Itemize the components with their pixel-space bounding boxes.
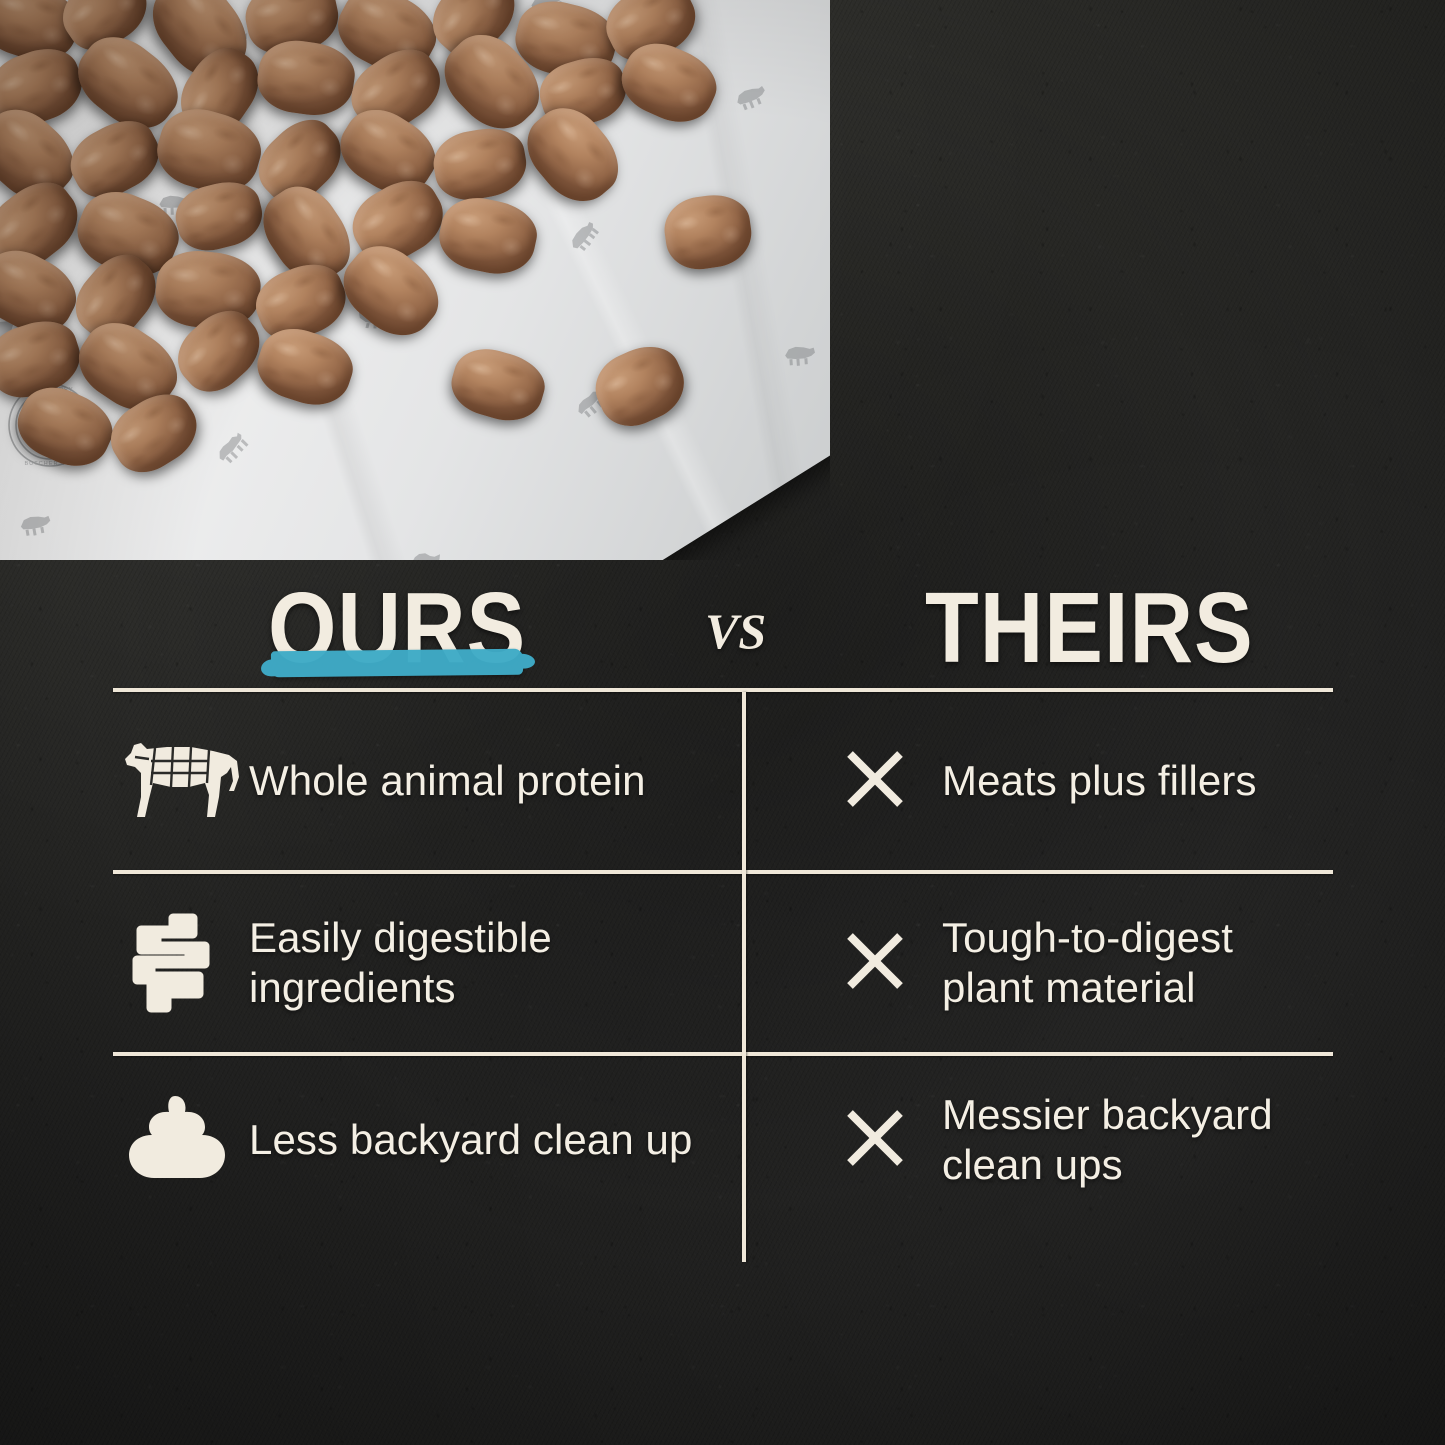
- header-ours: OURS: [268, 590, 526, 678]
- teal-brush-underline: [271, 649, 523, 678]
- comparison-table: OURS VS THEIRS: [113, 566, 1333, 1224]
- row-1-ours-text: Whole animal protein: [249, 756, 646, 806]
- row-3-ours-text: Less backyard clean up: [249, 1115, 692, 1165]
- poop-icon: [121, 1094, 249, 1186]
- x-mark-icon: [842, 746, 914, 817]
- table-row: Whole animal protein Meats plus fillers: [113, 692, 1333, 870]
- x-mark-icon: [842, 928, 914, 999]
- row-1-theirs-cell: Meats plus fillers: [742, 692, 1329, 870]
- row-3-theirs-text: Messier backyard clean ups: [942, 1090, 1329, 1191]
- row-3-ours-cell: Less backyard clean up: [113, 1056, 742, 1224]
- x-mark-icon: [842, 1105, 914, 1176]
- table-rows: Whole animal protein Meats plus fillers: [113, 692, 1333, 1224]
- row-1-theirs-text: Meats plus fillers: [942, 756, 1257, 806]
- comparison-infographic: WHOLE PREY BUTCHER CUT: [0, 0, 1445, 1445]
- table-headers: OURS VS THEIRS: [113, 566, 1333, 688]
- table-row: Easily digestible ingredients Tough-to-d…: [113, 874, 1333, 1052]
- header-theirs-label: THEIRS: [925, 578, 1254, 678]
- row-2-theirs-text: Tough-to-digest plant material: [942, 913, 1329, 1014]
- row-3-theirs-cell: Messier backyard clean ups: [742, 1056, 1329, 1224]
- cow-butcher-cuts-icon: [121, 733, 249, 829]
- table-row: Less backyard clean up Messier backyard …: [113, 1056, 1333, 1224]
- row-2-ours-cell: Easily digestible ingredients: [113, 874, 742, 1052]
- row-2-theirs-cell: Tough-to-digest plant material: [742, 874, 1329, 1052]
- header-theirs: THEIRS: [925, 590, 1254, 678]
- intestine-digestion-icon: [121, 908, 249, 1018]
- row-2-ours-text: Easily digestible ingredients: [249, 913, 742, 1014]
- row-1-ours-cell: Whole animal protein: [113, 692, 742, 870]
- header-vs-label: VS: [705, 602, 766, 660]
